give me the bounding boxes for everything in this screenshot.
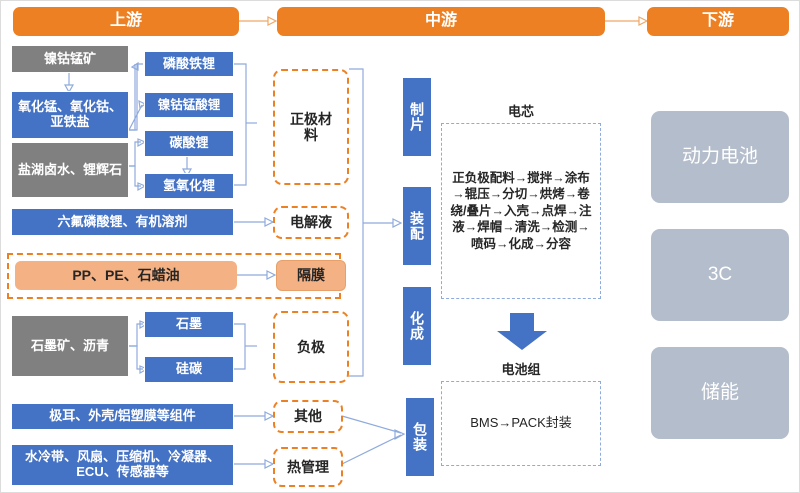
cell-process-text: 正负极配料→搅拌→涂布→辊压→分切→烘烤→卷绕/叠片→入壳→点焊→注液→焊帽→清…: [442, 166, 600, 257]
processed-material-box-graphite: 石墨: [144, 311, 234, 338]
category-box-anode: 负极: [273, 311, 349, 383]
processed-material-box-silicon-carbon: 硅碳: [144, 356, 234, 383]
raw-material-box-oxides: 氧化锰、氧化钴、亚铁盐: [11, 91, 129, 139]
category-box-separator: 隔膜: [276, 260, 346, 291]
category-label: 隔膜: [297, 267, 325, 283]
raw-material-box-salt-lake-brine: 盐湖卤水、锂辉石: [11, 142, 129, 198]
header-midstream-label: 中游: [425, 12, 457, 30]
application-label: 储能: [701, 382, 739, 404]
processed-material-box-lithium-carbonate: 碳酸锂: [144, 130, 234, 157]
category-box-other: 其他: [273, 400, 343, 433]
processed-material-label: 镍钴锰酸锂: [158, 98, 221, 112]
header-upstream: 上游: [13, 7, 239, 36]
stage-label: 装配: [409, 211, 425, 241]
category-label: 电解液: [290, 214, 332, 230]
raw-material-label: 镍钴锰矿: [44, 52, 96, 67]
pack-title: 电池组: [441, 359, 601, 378]
application-box-ev-battery: 动力电池: [651, 111, 789, 203]
header-upstream-label: 上游: [110, 12, 142, 30]
pack-process-text: BMS→PACK封装: [470, 416, 572, 431]
raw-material-label: 氧化锰、氧化钴、亚铁盐: [12, 100, 128, 130]
category-box-thermal-management: 热管理: [273, 447, 343, 487]
category-label: 其他: [294, 408, 322, 424]
category-box-cathode-material: 正极材料: [273, 69, 349, 185]
processed-material-box-ncm: 镍钴锰酸锂: [144, 92, 234, 118]
application-box-3c: 3C: [651, 229, 789, 321]
diagram-canvas: 上游 中游 下游 镍钴锰矿 氧化锰、氧化钴、亚铁盐 盐湖卤水、锂辉石 石墨矿、沥…: [0, 0, 800, 493]
category-label: 负极: [297, 339, 325, 355]
header-midstream: 中游: [277, 7, 605, 36]
component-label: 水冷带、风扇、压缩机、冷凝器、ECU、传感器等: [12, 450, 233, 480]
stage-box-packaging: 包装: [405, 397, 435, 477]
down-arrow-icon: [495, 313, 549, 351]
processed-material-label: 氢氧化锂: [163, 179, 215, 194]
category-box-electrolyte: 电解液: [273, 206, 349, 239]
cell-title: 电芯: [441, 101, 601, 120]
processed-material-label: 碳酸锂: [169, 136, 208, 151]
processed-material-box-lithium-hydroxide: 氢氧化锂: [144, 173, 234, 199]
stage-label: 化成: [409, 311, 425, 341]
component-label: 六氟磷酸锂、有机溶剂: [57, 215, 187, 230]
raw-material-label: 石墨矿、沥青: [31, 339, 109, 354]
raw-material-label: 盐湖卤水、锂辉石: [18, 163, 122, 178]
component-box-tabs-housing: 极耳、外壳/铝塑膜等组件: [11, 403, 234, 430]
component-box-thermal-parts: 水冷带、风扇、压缩机、冷凝器、ECU、传感器等: [11, 444, 234, 486]
stage-box-assembly: 装配: [402, 186, 432, 266]
processed-material-box-lfp: 磷酸铁锂: [144, 51, 234, 77]
stage-box-formation: 化成: [402, 286, 432, 366]
stage-label: 包装: [412, 422, 428, 452]
application-box-energy-storage: 储能: [651, 347, 789, 439]
application-label: 动力电池: [682, 146, 758, 168]
application-label: 3C: [708, 264, 732, 286]
category-label: 热管理: [287, 459, 329, 475]
pack-process-box: BMS→PACK封装: [441, 381, 601, 466]
header-downstream: 下游: [647, 7, 789, 36]
raw-material-box-graphite-ore: 石墨矿、沥青: [11, 315, 129, 377]
header-downstream-label: 下游: [702, 12, 734, 30]
cell-process-box: 正负极配料→搅拌→涂布→辊压→分切→烘烤→卷绕/叠片→入壳→点焊→注液→焊帽→清…: [441, 123, 601, 299]
processed-material-label: 磷酸铁锂: [163, 57, 215, 72]
component-box-electrolyte-materials: 六氟磷酸锂、有机溶剂: [11, 208, 234, 236]
raw-material-box-nickel-cobalt-manganese-ore: 镍钴锰矿: [11, 45, 129, 73]
category-label: 正极材料: [290, 111, 332, 143]
processed-material-label: 硅碳: [176, 362, 202, 377]
component-label: 极耳、外壳/铝塑膜等组件: [49, 409, 196, 424]
stage-label: 制片: [409, 102, 425, 132]
stage-box-electrode-making: 制片: [402, 77, 432, 157]
processed-material-label: 石墨: [176, 317, 202, 332]
